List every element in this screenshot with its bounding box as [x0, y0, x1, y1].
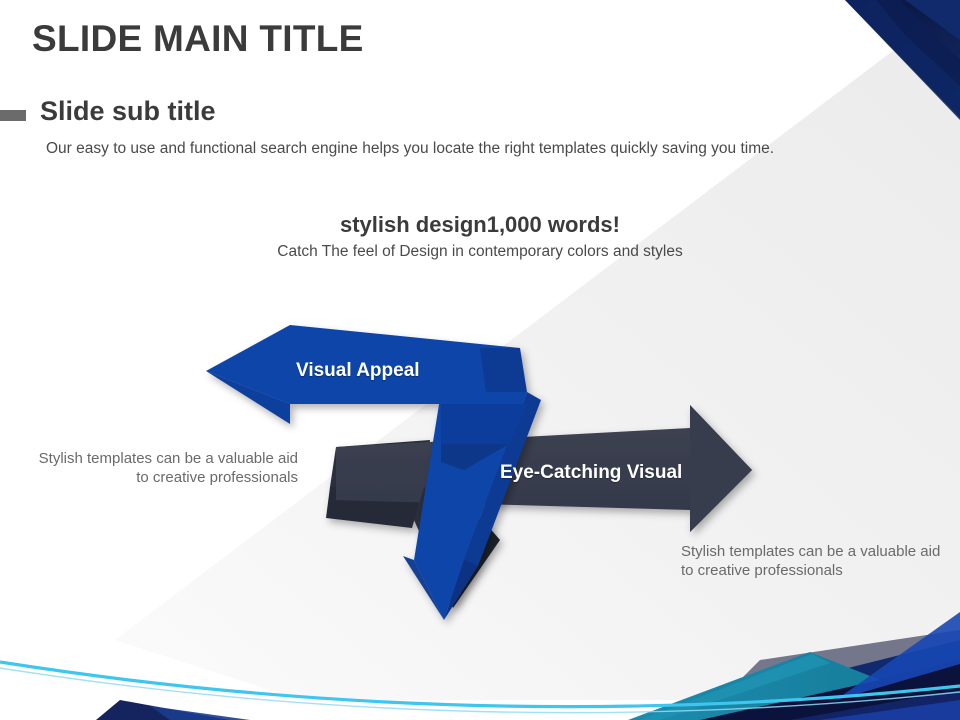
center-heading: stylish design1,000 words! [0, 212, 960, 238]
caption-right: Stylish templates can be a valuable aid … [681, 542, 943, 580]
slide-canvas: SLIDE MAIN TITLE Slide sub title Our eas… [0, 0, 960, 720]
corner-shapes-bottom-right [628, 612, 960, 720]
arrow-label-visual-appeal[interactable]: Visual Appeal [296, 360, 420, 382]
page-subtitle: Slide sub title [40, 96, 216, 127]
arrow-label-eye-catching-visual[interactable]: Eye-Catching Visual [500, 462, 682, 484]
caption-left: Stylish templates can be a valuable aid … [38, 450, 298, 488]
lead-paragraph: Our easy to use and functional search en… [46, 140, 774, 158]
center-subheading: Catch The feel of Design in contemporary… [0, 243, 960, 261]
page-title: SLIDE MAIN TITLE [32, 18, 364, 60]
subtitle-bullet-marker [0, 110, 26, 121]
corner-shapes-top-right [845, 0, 960, 120]
corner-shapes-bottom-left [0, 662, 960, 720]
gray-diagonal-panel [115, 0, 960, 700]
